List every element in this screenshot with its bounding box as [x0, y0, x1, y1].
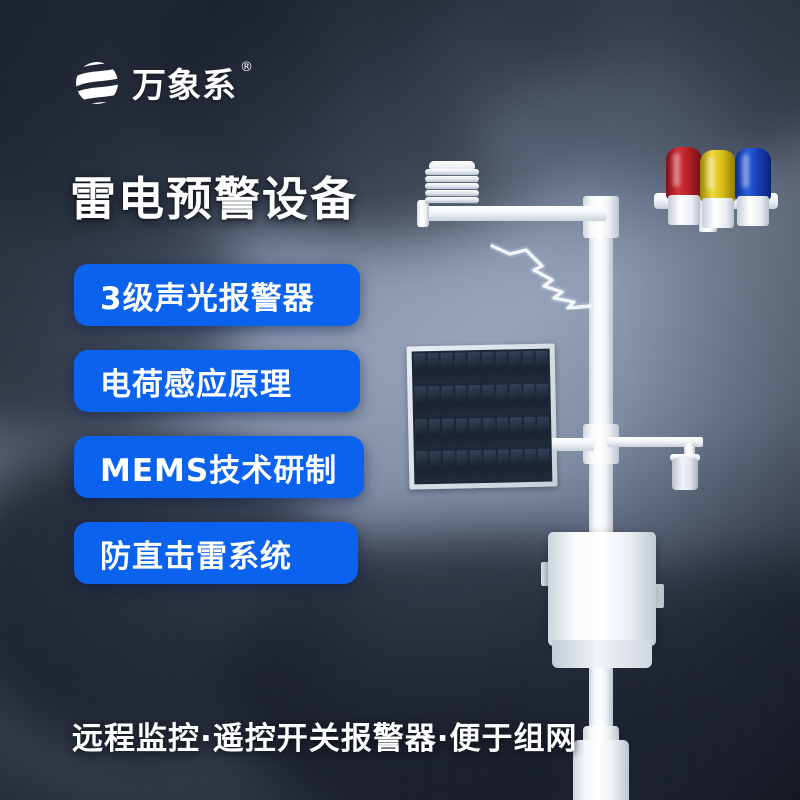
feature-badge-label: 防直击雷系统: [100, 531, 292, 576]
shield-plate: [425, 183, 479, 189]
registered-trademark-icon: ®: [240, 60, 253, 75]
solar-cell: [522, 351, 534, 382]
radiation-shield-sensor: [425, 161, 479, 207]
solar-cell: [468, 352, 480, 383]
solar-cell-grid: [412, 349, 553, 485]
solar-cell: [536, 351, 548, 382]
lamp-base: [737, 196, 769, 226]
lamp-highlight: [673, 153, 680, 187]
solar-cell: [469, 385, 481, 416]
solar-cell: [538, 449, 550, 480]
solar-cell: [511, 449, 523, 480]
solar-cell: [414, 353, 426, 384]
solar-cell: [523, 384, 535, 415]
solar-panel: [407, 343, 558, 489]
blue-lamp-dome: [735, 148, 771, 200]
enclosure-bottom: [552, 640, 652, 668]
blue-alarm-lamp: [735, 148, 771, 226]
solar-cell: [455, 385, 467, 416]
solar-cell: [454, 352, 466, 383]
solar-cell: [442, 418, 454, 449]
lamp-base: [702, 198, 734, 228]
mast-base: [573, 740, 629, 800]
lamp-highlight: [742, 154, 749, 188]
brand-logo: 万象系 ®: [74, 58, 253, 107]
mast-pole: [589, 196, 613, 756]
solar-cell: [484, 450, 496, 481]
solar-cell: [442, 385, 454, 416]
solar-cell: [427, 353, 439, 384]
solar-cell: [414, 386, 426, 417]
upper-crossarm: [421, 206, 607, 221]
solar-cell: [456, 418, 468, 449]
solar-cell: [524, 416, 536, 447]
yellow-alarm-lamp: [700, 150, 736, 228]
feature-badge-list: 3级声光报警器 电荷感应原理 MEMS技术研制 防直击雷系统: [74, 264, 364, 584]
controller-enclosure: 环境监测站: [548, 532, 656, 646]
solar-cell: [495, 351, 507, 382]
solar-cell: [509, 351, 521, 382]
feature-badge: MEMS技术研制: [74, 436, 364, 498]
solar-cell: [429, 418, 441, 449]
brand-name: 万象系: [132, 58, 237, 107]
swirl-globe-logo-icon: [74, 60, 120, 106]
feature-badge-label: MEMS技术研制: [100, 445, 337, 490]
solar-cell: [457, 451, 469, 482]
page-title: 雷电预警设备: [70, 163, 358, 229]
shield-cap: [429, 161, 475, 169]
solar-cell: [428, 386, 440, 417]
solar-cell: [510, 384, 522, 415]
feature-badge: 电荷感应原理: [74, 350, 360, 412]
solar-cell: [443, 451, 455, 482]
shield-plate: [425, 190, 479, 196]
solar-cell: [441, 353, 453, 384]
solar-cell: [537, 383, 549, 414]
solar-cell: [429, 451, 441, 482]
shield-plate: [425, 169, 479, 175]
solar-cell: [469, 418, 481, 449]
yellow-lamp-dome: [700, 150, 736, 202]
feature-badge-label: 电荷感应原理: [100, 359, 292, 404]
solar-cell: [510, 417, 522, 448]
shield-plate: [425, 197, 479, 203]
red-alarm-lamp: [666, 147, 702, 225]
feature-badge: 3级声光报警器: [74, 264, 360, 326]
feature-badge: 防直击雷系统: [74, 522, 358, 584]
enclosure-bracket-right: [655, 584, 664, 608]
solar-panel-arm: [552, 438, 594, 451]
red-lamp-dome: [666, 147, 702, 199]
solar-cell: [496, 384, 508, 415]
solar-cell: [482, 352, 494, 383]
solar-cell: [497, 417, 509, 448]
solar-cell: [524, 449, 536, 480]
poster: 环境监测站 万象系 ® 雷电预警设备 3级声光报警器 电荷感应原理: [0, 0, 800, 800]
brand-name-group: 万象系 ®: [132, 58, 253, 107]
footer-tagline: 远程监控·遥控开关报警器·便于组网: [72, 713, 578, 758]
solar-cell: [416, 451, 428, 482]
feature-badge-label: 3级声光报警器: [100, 273, 315, 318]
lamp-highlight: [707, 156, 714, 190]
cylindrical-sensor: [672, 458, 698, 490]
solar-cell: [482, 384, 494, 415]
lamp-base: [668, 195, 700, 225]
solar-cell: [415, 419, 427, 450]
solar-cell: [483, 417, 495, 448]
solar-cell: [537, 416, 549, 447]
solar-cell: [470, 450, 482, 481]
shield-plate: [425, 176, 479, 182]
solar-cell: [497, 450, 509, 481]
